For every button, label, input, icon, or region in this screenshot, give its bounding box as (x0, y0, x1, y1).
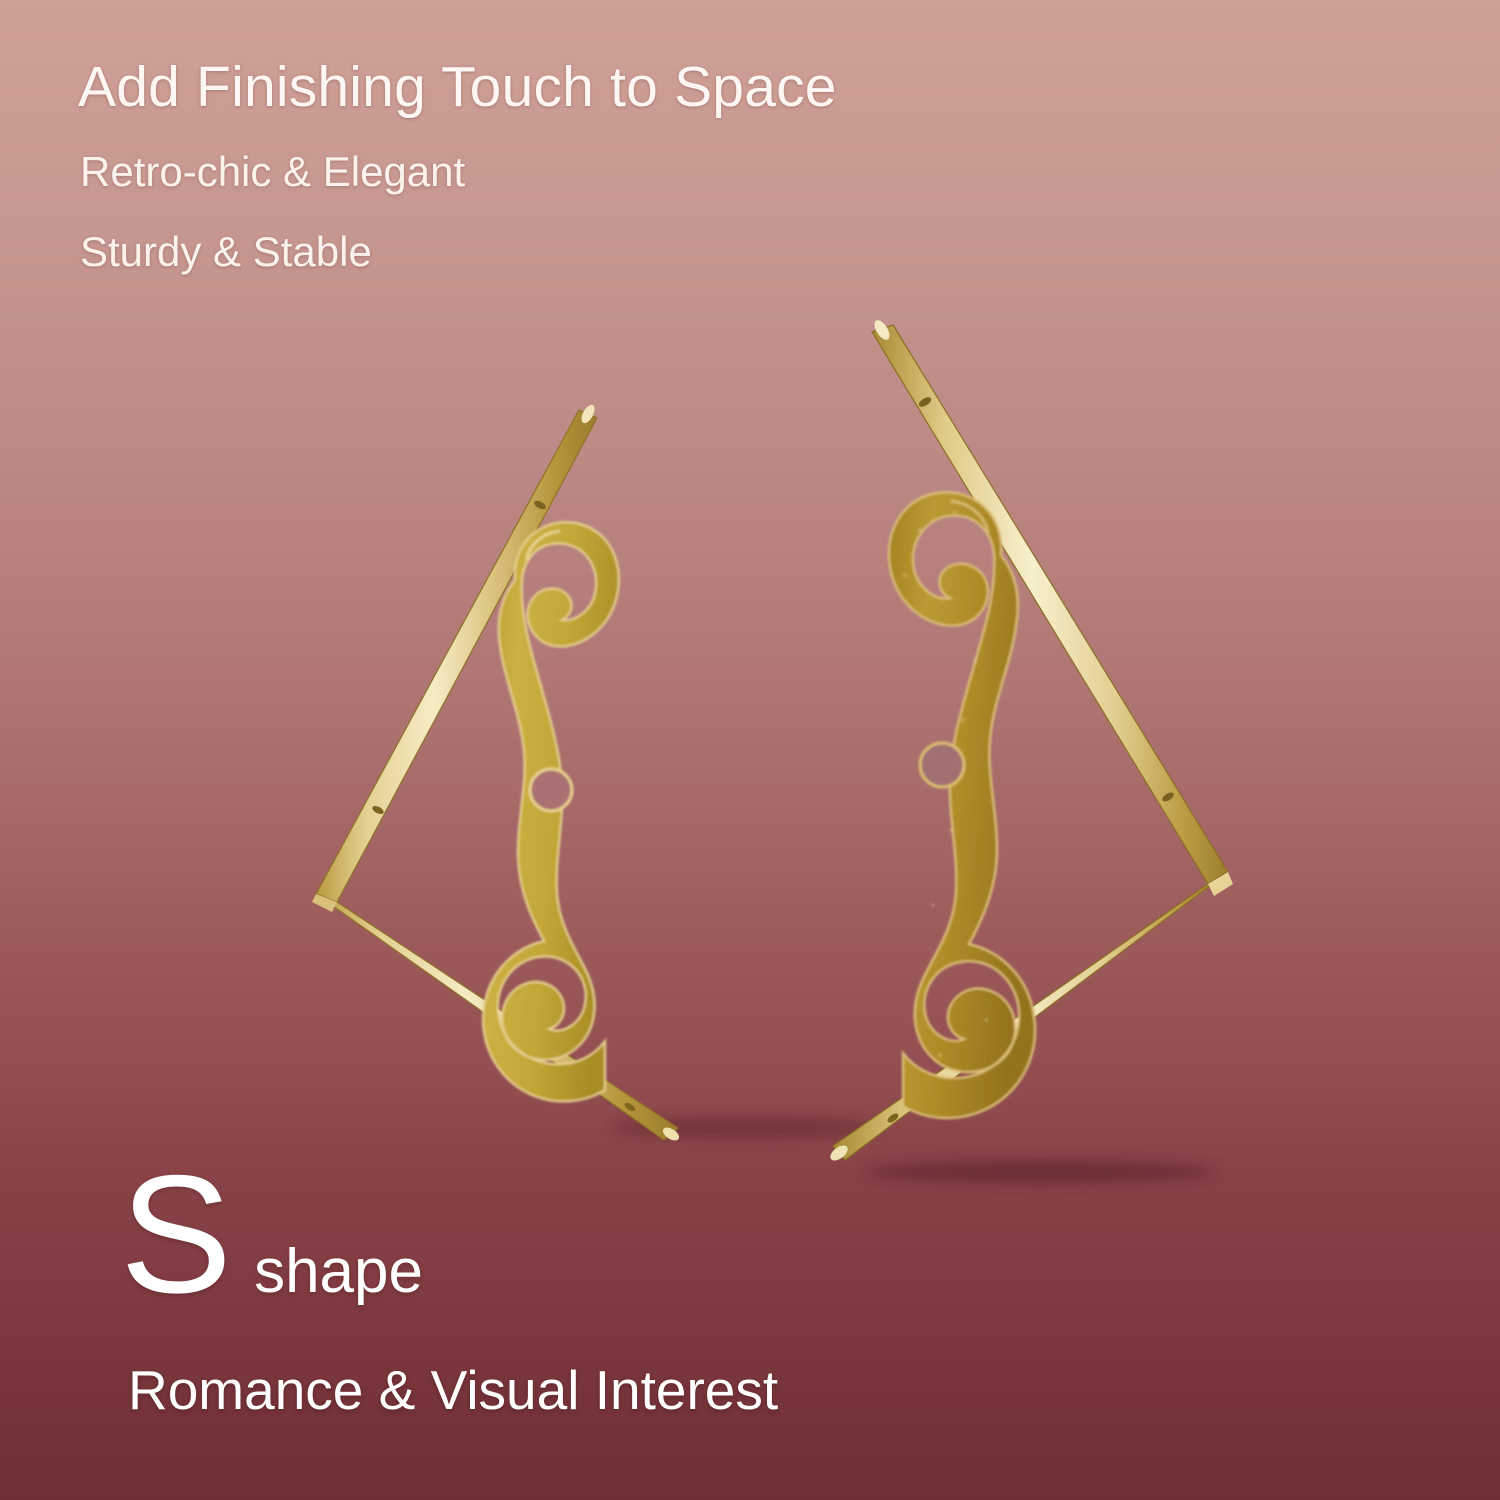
left-s-scroll (483, 522, 619, 1101)
right-scroll-body (889, 492, 1035, 1118)
feature-line-1: Retro-chic & Elegant (80, 148, 465, 196)
page-tagline: Romance & Visual Interest (128, 1358, 778, 1422)
bookend-right (828, 318, 1233, 1164)
shape-word: shape (254, 1236, 423, 1307)
right-scroll-cutout (920, 743, 964, 787)
feature-line-2: Sturdy & Stable (80, 228, 372, 276)
left-scroll-cutout (530, 769, 572, 811)
shape-label: S shape (120, 1150, 423, 1318)
right-s-scroll (889, 492, 1035, 1118)
bookend-left (312, 403, 681, 1143)
cast-shadows (610, 1117, 1215, 1184)
product-marketing-image: Add Finishing Touch to Space Retro-chic … (0, 0, 1500, 1500)
shape-letter: S (120, 1150, 232, 1318)
shadow-right-bookend (865, 1160, 1215, 1184)
page-headline: Add Finishing Touch to Space (78, 54, 837, 120)
